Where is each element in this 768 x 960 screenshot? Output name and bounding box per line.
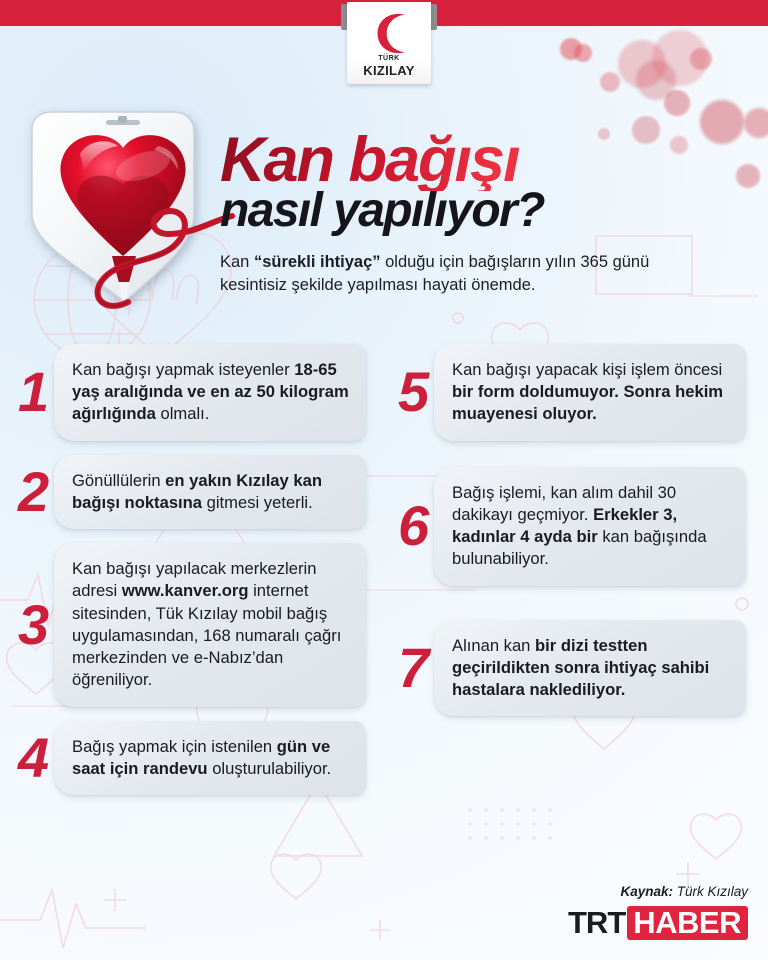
list-item: 6 Bağış işlemi, kan alım dahil 30 dakika… [398, 467, 746, 586]
item-card: Gönüllülerin en yakın Kızılay kan bağışı… [54, 455, 366, 529]
item-card: Kan bağışı yapacak kişi işlem öncesi bir… [434, 344, 746, 441]
page-title-line2: nasıl yapılıyor? [220, 187, 740, 236]
item-card: Bağış yapmak için istenilen gün ve saat … [54, 721, 366, 795]
item-card: Kan bağışı yapılacak merkezlerin adresi … [54, 543, 366, 706]
item-card: Bağış işlemi, kan alım dahil 30 dakikayı… [434, 467, 746, 586]
infographic-page: TÜRK KIZILAY [0, 0, 768, 960]
trt-haber-logo: TRT HABER [568, 906, 748, 940]
text-emphasis: www.kanver.org [122, 581, 249, 600]
blood-cell [574, 44, 592, 62]
blood-cell [560, 38, 582, 60]
text-run: oluşturulabiliyor. [208, 759, 332, 778]
text-run: Kan bağışı yapmak isteyenler [72, 360, 294, 379]
list-item: 4 Bağış yapmak için istenilen gün ve saa… [18, 721, 366, 795]
blood-cell [744, 108, 768, 138]
list-item: 2 Gönüllülerin en yakın Kızılay kan bağı… [18, 455, 366, 529]
item-text: Kan bağışı yapılacak merkezlerin adresi … [72, 558, 350, 691]
blood-cell [652, 30, 708, 86]
subtitle-bold: “sürekli ihtiyaç” [254, 253, 381, 271]
list-item: 1 Kan bağışı yapmak isteyenler 18-65 yaş… [18, 344, 366, 441]
logo-haber-text: HABER [627, 906, 748, 940]
blood-cell [636, 60, 676, 100]
item-text: Gönüllülerin en yakın Kızılay kan bağışı… [72, 470, 350, 514]
text-run: Kan bağışı yapacak kişi işlem öncesi [452, 360, 722, 379]
item-text: Alınan kan bir dizi testten geçirildikte… [452, 635, 730, 702]
ribbon-kizilay-text: KIZILAY [347, 63, 431, 78]
item-text: Bağış yapmak için istenilen gün ve saat … [72, 736, 350, 780]
item-text: Bağış işlemi, kan alım dahil 30 dakikayı… [452, 482, 730, 571]
items-column-left: 1 Kan bağışı yapmak isteyenler 18-65 yaş… [18, 344, 366, 809]
text-emphasis: bir form doldumuyor. Sonra hekim muayene… [452, 382, 723, 423]
blood-cell [690, 48, 712, 70]
subtitle-part1: Kan [220, 253, 254, 271]
kizilay-logo: TÜRK KIZILAY [347, 0, 431, 84]
footer: Kaynak: Türk Kızılay TRT HABER [568, 884, 748, 940]
blood-cell [664, 90, 690, 116]
text-run: olmalı. [156, 404, 209, 423]
page-title-line1: Kan bağışı [220, 130, 740, 191]
text-run: Alınan kan [452, 636, 535, 655]
list-item: 3 Kan bağışı yapılacak merkezlerin adres… [18, 543, 366, 706]
item-text: Kan bağışı yapmak isteyenler 18-65 yaş a… [72, 359, 350, 426]
source-line: Kaynak: Türk Kızılay [568, 884, 748, 899]
source-label: Kaynak: [620, 884, 673, 899]
list-item: 7 Alınan kan bir dizi testten geçirildik… [398, 620, 746, 717]
logo-trt-text: TRT [568, 906, 625, 940]
red-crescent-icon [347, 10, 431, 56]
item-card: Kan bağışı yapmak isteyenler 18-65 yaş a… [54, 344, 366, 441]
blood-bag-heart-illustration [8, 96, 238, 326]
subtitle: Kan “sürekli ihtiyaç” olduğu için bağışl… [220, 251, 686, 298]
blood-cell [600, 72, 620, 92]
text-run: Gönüllülerin [72, 471, 165, 490]
text-run: Bağış yapmak için istenilen [72, 737, 277, 756]
source-value: Türk Kızılay [673, 884, 748, 899]
item-card: Alınan kan bir dizi testten geçirildikte… [434, 620, 746, 717]
list-item: 5 Kan bağışı yapacak kişi işlem öncesi b… [398, 344, 746, 441]
items-column-right: 5 Kan bağışı yapacak kişi işlem öncesi b… [398, 344, 746, 730]
blood-cell [618, 40, 666, 88]
item-text: Kan bağışı yapacak kişi işlem öncesi bir… [452, 359, 730, 426]
text-run: gitmesi yeterli. [202, 493, 313, 512]
title-block: Kan bağışı nasıl yapılıyor? Kan “sürekli… [220, 130, 740, 298]
ribbon-turk-text: TÜRK [347, 55, 431, 62]
